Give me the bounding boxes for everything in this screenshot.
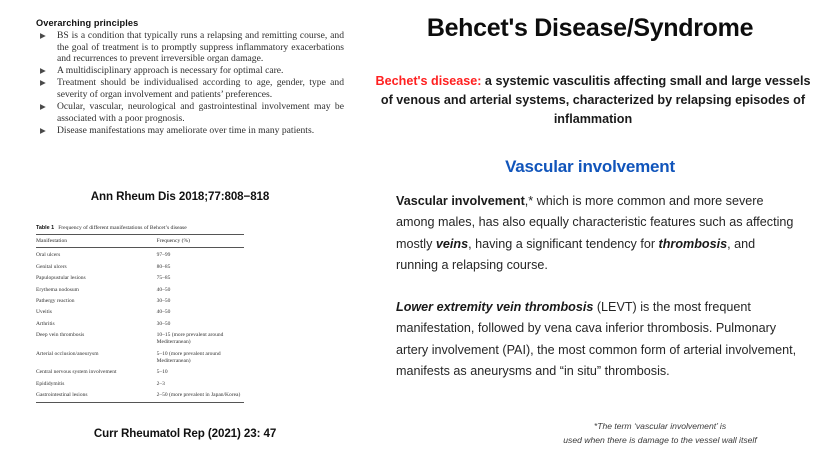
frequency-table-block: Table 1Frequency of different manifestat… [36, 224, 244, 403]
list-item: ▶ Disease manifestations may ameliorate … [36, 125, 344, 137]
list-item: ▶ Treatment should be individualised acc… [36, 77, 344, 100]
table-row: Pathergy reaction 30–50 [36, 296, 244, 307]
cell-manifestation: Genital ulcers [36, 262, 157, 273]
cell-manifestation: Uveitis [36, 307, 157, 318]
cell-frequency: 5–10 (more prevalent around Mediterranea… [157, 349, 244, 368]
cell-manifestation: Pathergy reaction [36, 296, 157, 307]
emphasis-thrombosis: thrombosis [659, 237, 728, 251]
principle-text: Treatment should be individualised accor… [57, 77, 344, 100]
table-caption: Table 1Frequency of different manifestat… [36, 224, 244, 234]
table-row: Arthritis 30–50 [36, 319, 244, 330]
triangle-bullet-icon: ▶ [40, 101, 46, 113]
table-row: Erythema nodosum 40–50 [36, 284, 244, 295]
list-item: ▶ Ocular, vascular, neurological and gas… [36, 101, 344, 124]
cell-frequency: 10–15 (more prevalent around Mediterrane… [157, 330, 244, 349]
left-column: Overarching principles ▶ BS is a conditi… [0, 0, 360, 461]
emphasis-lower-extremity-vein-thrombosis: Lower extremity vein thrombosis [396, 300, 593, 314]
principles-heading: Overarching principles [36, 18, 344, 28]
paragraph-text-part-2: , having a significant tendency for [468, 237, 658, 251]
cell-manifestation: Erythema nodosum [36, 284, 157, 295]
footnote: *The term ‘vascular involvement’ is used… [510, 420, 810, 447]
overarching-principles-block: Overarching principles ▶ BS is a conditi… [36, 18, 344, 137]
column-header-manifestation: Manifestation [36, 235, 157, 248]
cell-manifestation: Epididymitis [36, 379, 157, 390]
cell-manifestation: Central nervous system involvement [36, 367, 157, 378]
list-item: ▶ BS is a condition that typically runs … [36, 30, 344, 65]
table-row: Uveitis 40–50 [36, 307, 244, 318]
table-row: Epididymitis 2–3 [36, 379, 244, 390]
page-title: Behcet's Disease/Syndrome [360, 14, 820, 43]
triangle-bullet-icon: ▶ [40, 77, 46, 89]
cell-frequency: 30–50 [157, 296, 244, 307]
footnote-line-1: *The term ‘vascular involvement’ is [510, 420, 810, 434]
principle-text: A multidisciplinary approach is necessar… [57, 65, 283, 76]
citation-curr-rheumatol-rep: Curr Rheumatol Rep (2021) 23: 47 [0, 427, 370, 440]
table-row: Deep vein thrombosis 10–15 (more prevale… [36, 330, 244, 349]
column-header-frequency: Frequency (%) [157, 235, 244, 248]
citation-ann-rheum-dis: Ann Rheum Dis 2018;77:808−818 [0, 190, 360, 203]
table-row: Arterial occlusion/aneurysm 5–10 (more p… [36, 349, 244, 368]
principles-bullet-list: ▶ BS is a condition that typically runs … [36, 30, 344, 136]
table-body: Oral ulcers 97–99 Genital ulcers 80–85 P… [36, 248, 244, 403]
footnote-line-2: used when there is damage to the vessel … [510, 434, 810, 448]
right-column: Behcet's Disease/Syndrome Bechet's disea… [360, 0, 820, 461]
table-row: Papulopustular lesions 75–85 [36, 273, 244, 284]
section-heading-vascular-involvement: Vascular involvement [360, 157, 820, 177]
cell-frequency: 97–99 [157, 248, 244, 262]
cell-manifestation: Papulopustular lesions [36, 273, 157, 284]
table-label: Table 1 [36, 225, 54, 231]
cell-frequency: 5–10 [157, 367, 244, 378]
principle-text: BS is a condition that typically runs a … [57, 30, 344, 64]
cell-frequency: 2–50 (more prevalent in Japan/Korea) [157, 390, 244, 403]
paragraph-vascular-involvement: Vascular involvement,* which is more com… [396, 191, 800, 276]
cell-frequency: 80–85 [157, 262, 244, 273]
principle-text: Disease manifestations may ameliorate ov… [57, 125, 314, 136]
cell-frequency: 30–50 [157, 319, 244, 330]
cell-manifestation: Gastrointestinal lesions [36, 390, 157, 403]
emphasis-veins: veins [436, 237, 468, 251]
principle-text: Ocular, vascular, neurological and gastr… [57, 101, 344, 124]
triangle-bullet-icon: ▶ [40, 125, 46, 137]
cell-frequency: 2–3 [157, 379, 244, 390]
triangle-bullet-icon: ▶ [40, 65, 46, 77]
list-item: ▶ A multidisciplinary approach is necess… [36, 65, 344, 77]
cell-manifestation: Arthritis [36, 319, 157, 330]
cell-manifestation: Deep vein thrombosis [36, 330, 157, 349]
definition-lead-term: Bechet's disease: [376, 74, 482, 88]
paragraph-lead-term: Vascular involvement [396, 194, 525, 208]
paragraph-levt: Lower extremity vein thrombosis (LEVT) i… [396, 297, 800, 382]
table-row: Genital ulcers 80–85 [36, 262, 244, 273]
cell-manifestation: Oral ulcers [36, 248, 157, 262]
cell-manifestation: Arterial occlusion/aneurysm [36, 349, 157, 368]
table-head: Manifestation Frequency (%) [36, 235, 244, 248]
table-header-row: Manifestation Frequency (%) [36, 235, 244, 248]
table-row: Gastrointestinal lesions 2–50 (more prev… [36, 390, 244, 403]
table-caption-text: Frequency of different manifestations of… [58, 225, 187, 231]
disease-definition: Bechet's disease: a systemic vasculitis … [370, 72, 816, 129]
triangle-bullet-icon: ▶ [40, 30, 46, 42]
table-row: Oral ulcers 97–99 [36, 248, 244, 262]
cell-frequency: 75–85 [157, 273, 244, 284]
cell-frequency: 40–50 [157, 307, 244, 318]
cell-frequency: 40–50 [157, 284, 244, 295]
table-row: Central nervous system involvement 5–10 [36, 367, 244, 378]
frequency-table: Manifestation Frequency (%) Oral ulcers … [36, 234, 244, 403]
